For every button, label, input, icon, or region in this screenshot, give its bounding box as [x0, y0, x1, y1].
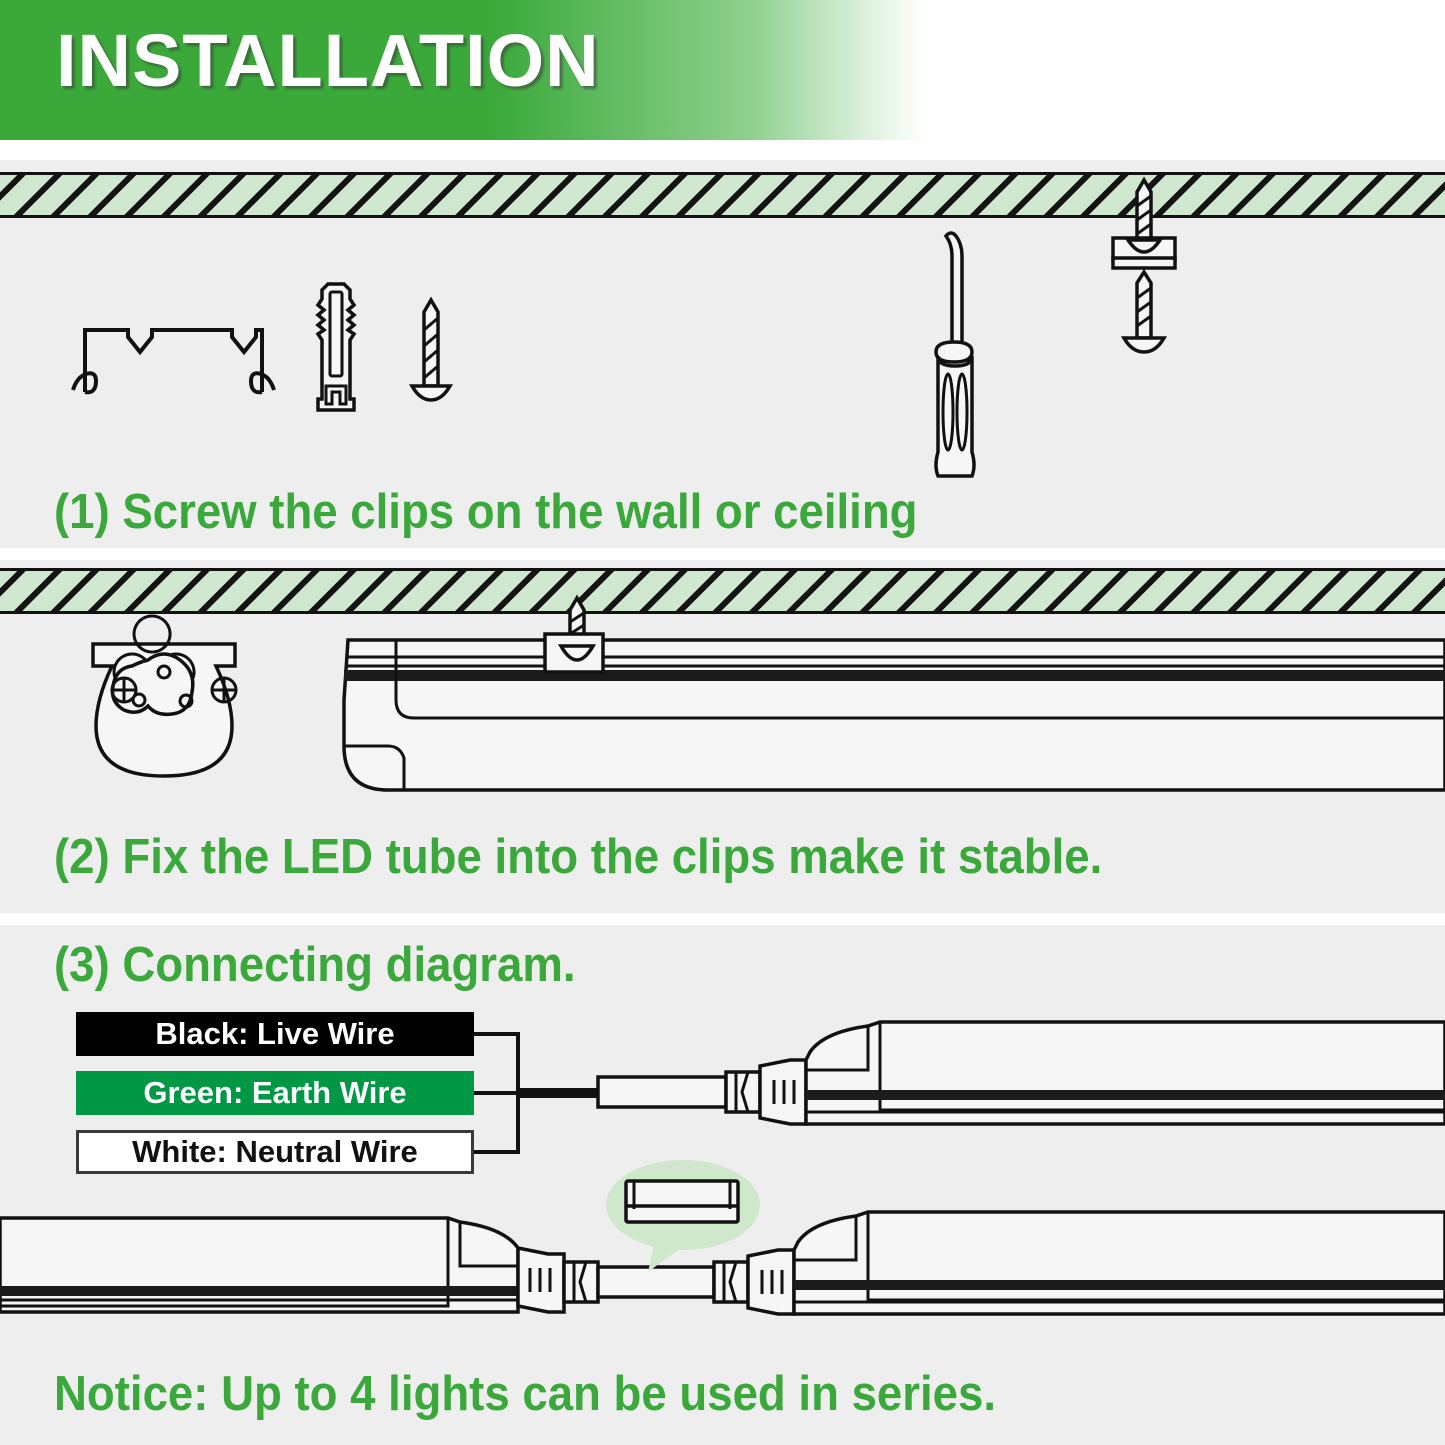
page-title: INSTALLATION [56, 24, 600, 98]
step-2-caption: (2) Fix the LED tube into the clips make… [54, 833, 1102, 882]
step-3-caption: (3) Connecting diagram. [54, 941, 576, 990]
legend-item-earth: Green: Earth Wire [76, 1071, 474, 1115]
panel-separator-1 [0, 548, 1445, 560]
header-banner: INSTALLATION [0, 0, 1445, 140]
legend-label-neutral: White: Neutral Wire [132, 1134, 418, 1170]
legend-label-earth: Green: Earth Wire [143, 1075, 406, 1111]
legend-item-live: Black: Live Wire [76, 1012, 474, 1056]
notice-text: Notice: Up to 4 lights can be used in se… [54, 1370, 996, 1419]
legend-item-neutral: White: Neutral Wire [76, 1130, 474, 1174]
panel-separator-2 [0, 913, 1445, 925]
step-1-caption: (1) Screw the clips on the wall or ceili… [54, 488, 918, 537]
ceiling-hatched-band-2 [0, 568, 1445, 614]
installation-infographic: INSTALLATION [0, 0, 1445, 1445]
legend-label-live: Black: Live Wire [155, 1016, 394, 1052]
ceiling-hatched-band-1 [0, 172, 1445, 218]
